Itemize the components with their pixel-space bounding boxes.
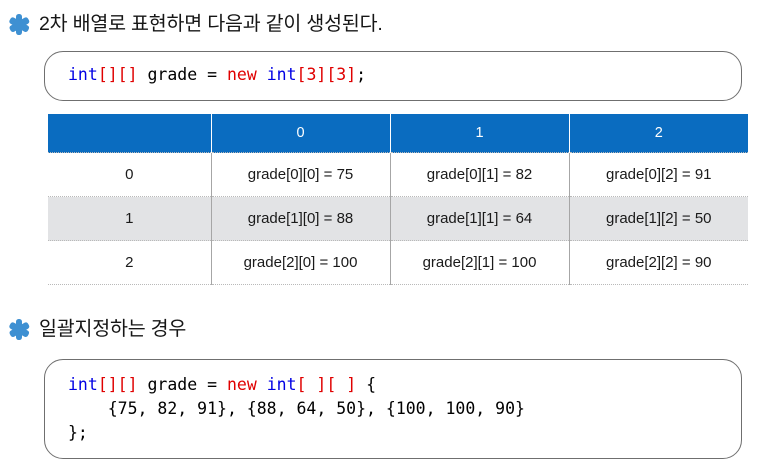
code1-token-brackets: [][]	[98, 65, 138, 84]
table-row: 1 grade[1][0] = 88 grade[1][1] = 64 grad…	[48, 197, 748, 241]
table-row-index: 0	[48, 153, 211, 197]
table-cell: grade[2][1] = 100	[390, 241, 569, 285]
heading-row-2: 일괄지정하는 경우	[8, 317, 186, 341]
code1-token-varname: grade =	[138, 65, 227, 84]
heading-row-1: 2차 배열로 표현하면 다음과 같이 생성된다.	[8, 12, 383, 36]
code2-token-int2: int	[267, 375, 297, 394]
table-header: 0 1 2	[48, 114, 748, 153]
code2-token-brackets: [][]	[98, 375, 138, 394]
code1-token-dims: [3][3]	[297, 65, 357, 84]
table-cell: grade[0][0] = 75	[211, 153, 390, 197]
table-col-header-1: 1	[390, 114, 569, 153]
table-row: 2 grade[2][0] = 100 grade[2][1] = 100 gr…	[48, 241, 748, 285]
table-corner-cell	[48, 114, 211, 153]
table-col-header-0: 0	[211, 114, 390, 153]
table-body: 0 grade[0][0] = 75 grade[0][1] = 82 grad…	[48, 153, 748, 285]
code-block-1-content: int[][] grade = new int[3][3];	[45, 52, 741, 87]
code1-token-int2: int	[267, 65, 297, 84]
heading-2-label: 일괄지정하는 경우	[39, 317, 186, 341]
code-block-2: int[][] grade = new int[ ][ ] { {75, 82,…	[44, 359, 742, 459]
code1-token-semicolon: ;	[356, 65, 366, 84]
table-cell: grade[1][1] = 64	[390, 197, 569, 241]
snowflake-bullet-icon	[8, 13, 30, 35]
table-row-index: 1	[48, 197, 211, 241]
table-cell: grade[2][0] = 100	[211, 241, 390, 285]
code2-line-close: };	[68, 423, 88, 442]
code2-line-values: {75, 82, 91}, {88, 64, 50}, {100, 100, 9…	[68, 399, 525, 418]
code1-token-new: new	[227, 65, 267, 84]
table-header-row: 0 1 2	[48, 114, 748, 153]
table-col-header-2: 2	[569, 114, 748, 153]
code2-token-new: new	[227, 375, 267, 394]
code1-token-int: int	[68, 65, 98, 84]
table-cell: grade[1][0] = 88	[211, 197, 390, 241]
grade-array-table: 0 1 2 0 grade[0][0] = 75 grade[0][1] = 8…	[48, 114, 748, 285]
table-cell: grade[2][2] = 90	[569, 241, 748, 285]
table-row: 0 grade[0][0] = 75 grade[0][1] = 82 grad…	[48, 153, 748, 197]
code2-token-dims: [ ][ ]	[297, 375, 357, 394]
table-row-index: 2	[48, 241, 211, 285]
code2-token-open-brace: {	[356, 375, 376, 394]
code2-token-varname: grade =	[138, 375, 227, 394]
code-block-1: int[][] grade = new int[3][3];	[44, 51, 742, 101]
snowflake-bullet-icon	[8, 318, 30, 340]
code-block-2-content: int[][] grade = new int[ ][ ] { {75, 82,…	[45, 360, 741, 445]
table-cell: grade[0][2] = 91	[569, 153, 748, 197]
code2-token-int: int	[68, 375, 98, 394]
table-cell: grade[0][1] = 82	[390, 153, 569, 197]
heading-1-label: 2차 배열로 표현하면 다음과 같이 생성된다.	[39, 12, 383, 36]
table-cell: grade[1][2] = 50	[569, 197, 748, 241]
